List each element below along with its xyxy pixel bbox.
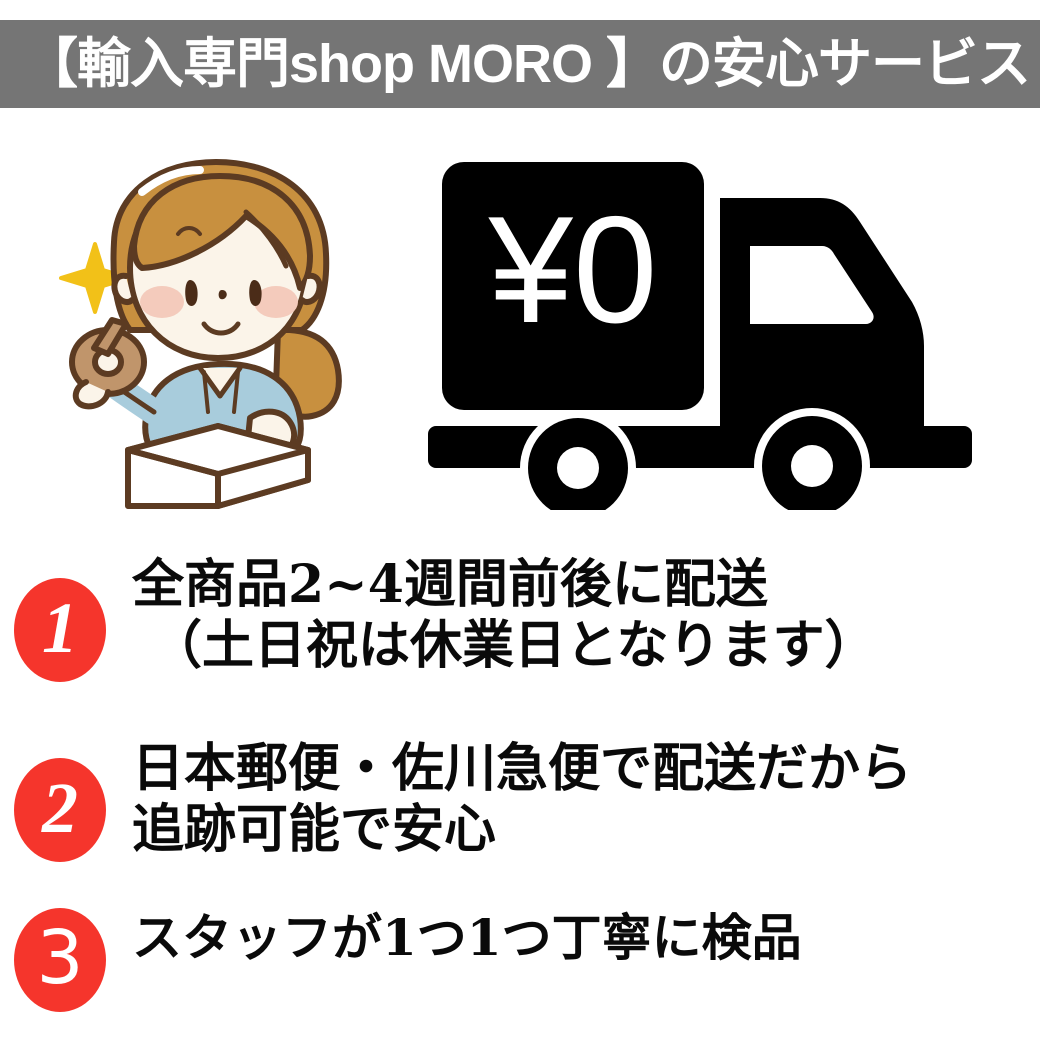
feature-text: 全商品2~4週間前後に配送 （土日祝は休業日となります） [132, 554, 1032, 677]
delivery-truck-illustration: ¥0 [420, 150, 1000, 510]
feature-line: 追跡可能で安心 [132, 799, 1032, 860]
woman-packing-illustration [50, 150, 390, 510]
badge-label: 1 [42, 592, 78, 664]
feature-text: 日本郵便・佐川急便で配送だから 追跡可能で安心 [132, 738, 1032, 861]
feature-line: 日本郵便・佐川急便で配送だから [132, 738, 1032, 799]
badge-number-2: 2 [14, 758, 106, 862]
list-item: 3 スタッフが1つ1つ丁寧に検品 [0, 890, 1040, 1010]
badge-number-1: 1 [14, 578, 106, 682]
truck-front-hub [791, 445, 833, 487]
page-title: 【輸入専門shop MORO 】の安心サービス [24, 37, 1030, 91]
feature-text: スタッフが1つ1つ丁寧に検品 [132, 908, 1032, 967]
woman-illustration-svg [50, 150, 390, 510]
header-banner: 【輸入専門shop MORO 】の安心サービス [0, 20, 1040, 108]
cheek-left [140, 286, 184, 318]
illustration-stage: ¥0 [0, 130, 1040, 530]
truck-illustration-svg: ¥0 [420, 150, 1000, 510]
service-banner-page: 【輸入専門shop MORO 】の安心サービス [0, 0, 1040, 1040]
badge-label: 3 [36, 921, 83, 995]
badge-number-3: 3 [14, 908, 106, 1012]
badge-label: 2 [42, 772, 78, 844]
feature-line: スタッフが1つ1つ丁寧に検品 [132, 908, 1032, 967]
list-item: 1 全商品2~4週間前後に配送 （土日祝は休業日となります） [0, 548, 1040, 738]
truck-front-bumper [900, 426, 972, 468]
feature-line: （土日祝は休業日となります） [132, 615, 1032, 676]
free-shipping-label: ¥0 [487, 185, 657, 355]
list-item: 2 日本郵便・佐川急便で配送だから 追跡可能で安心 [0, 738, 1040, 890]
feature-line: 全商品2~4週間前後に配送 [132, 554, 1032, 615]
truck-rear-hub [557, 447, 599, 489]
